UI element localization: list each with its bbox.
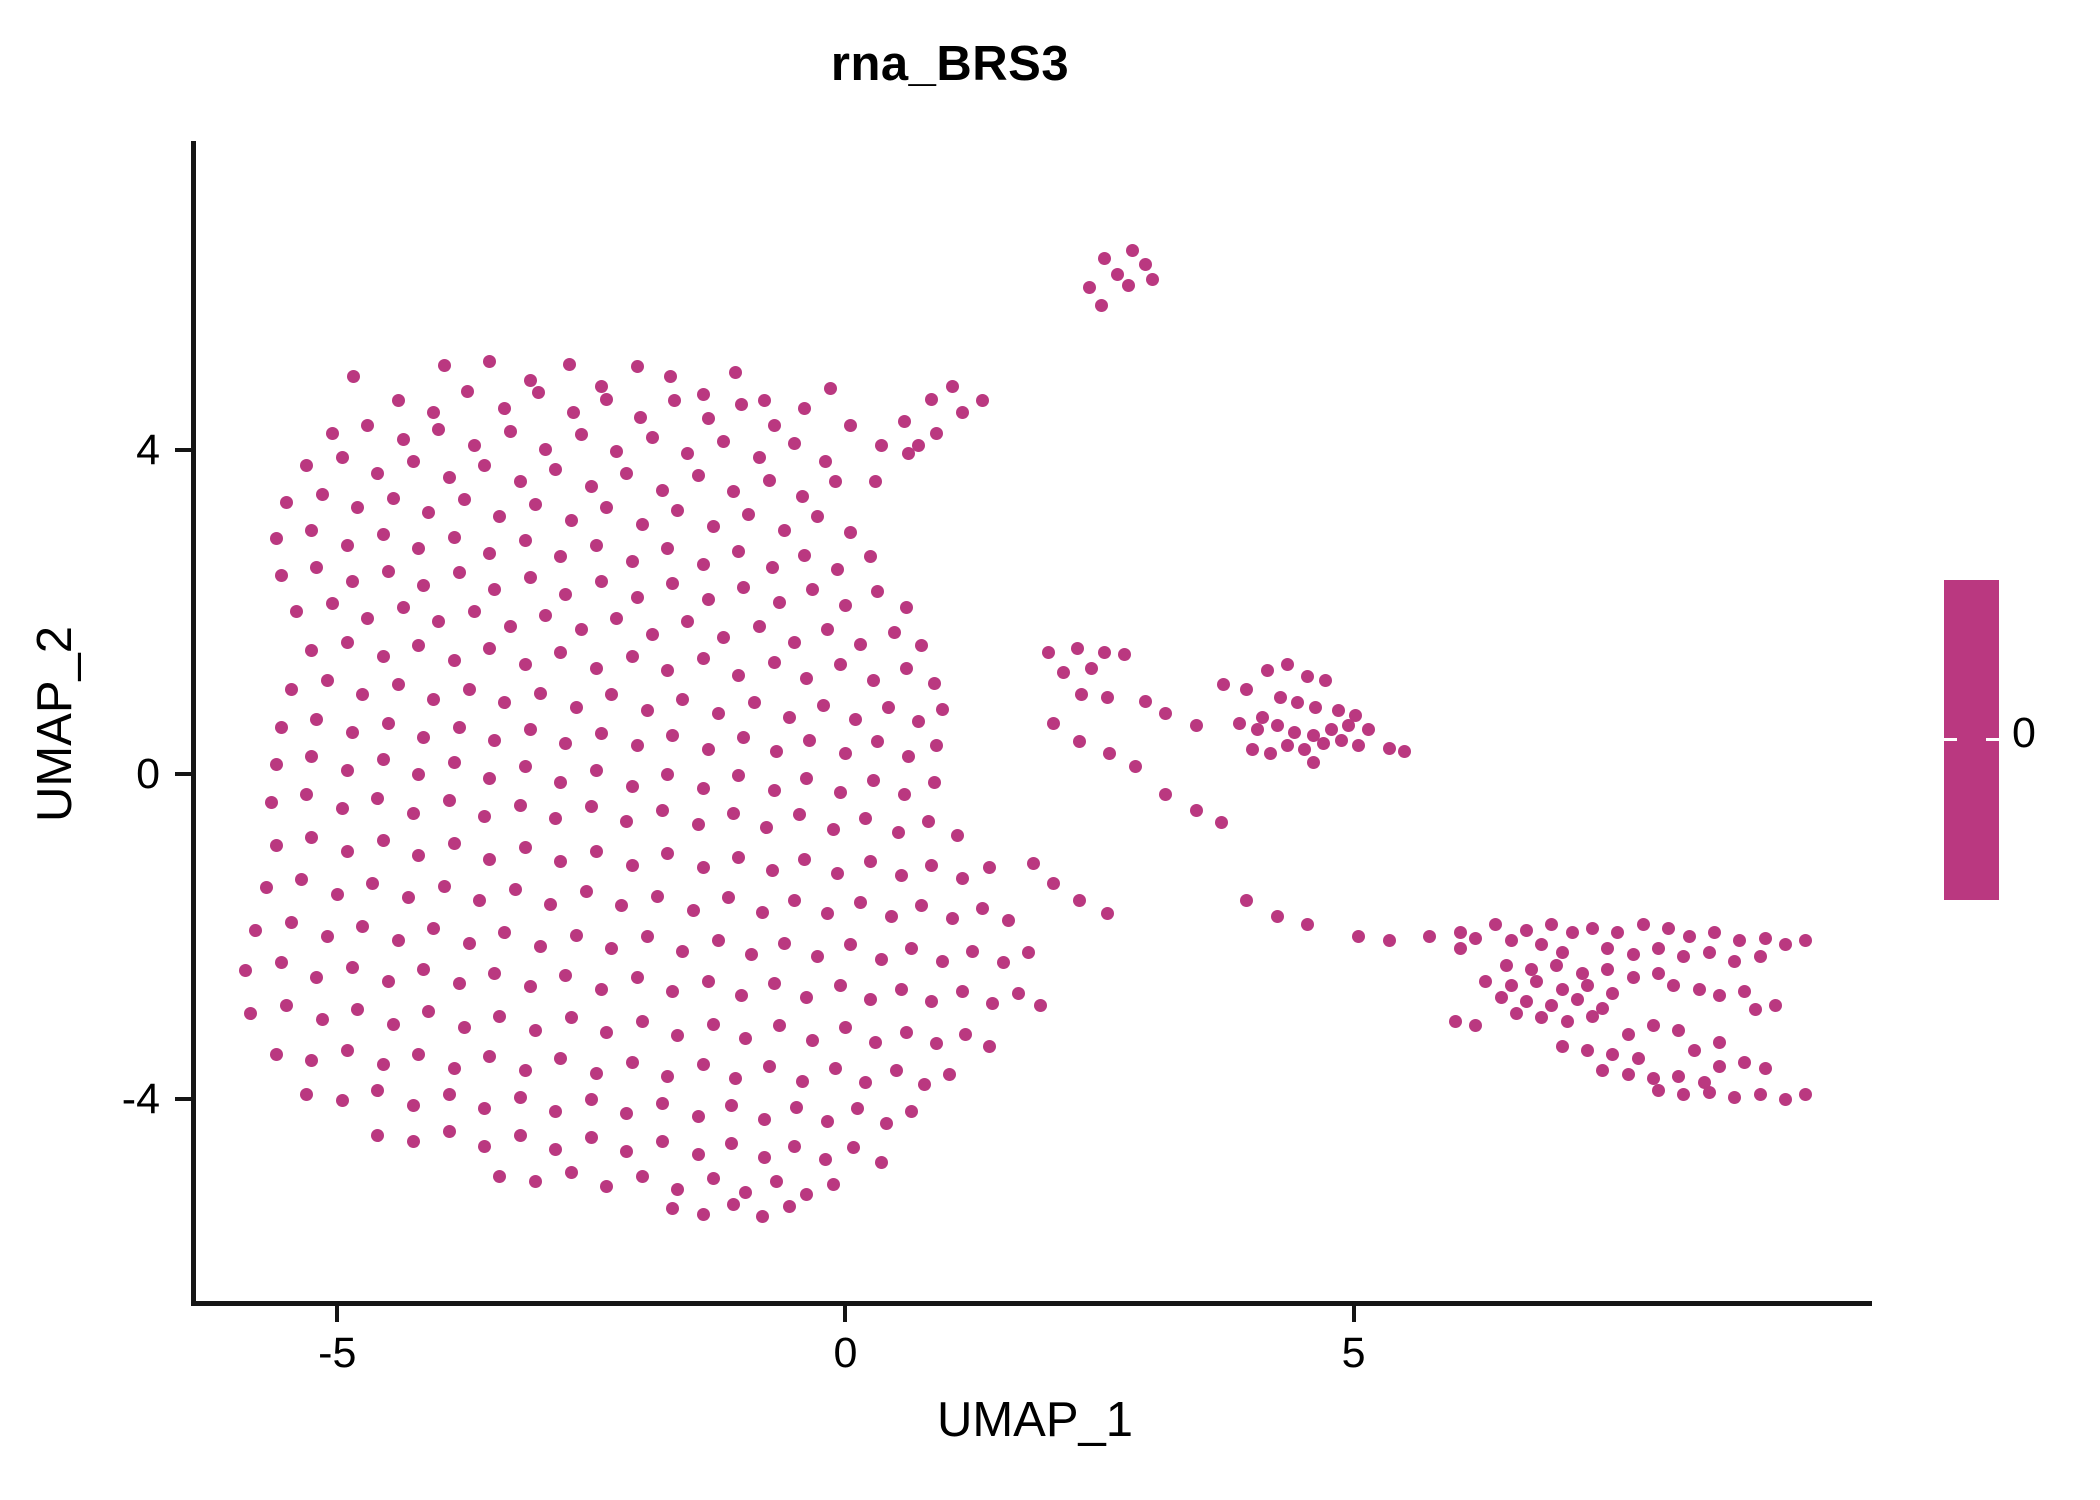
scatter-point (788, 636, 801, 649)
x-tick-mark (1352, 1306, 1356, 1322)
scatter-point (377, 650, 390, 663)
scatter-point (595, 575, 608, 588)
scatter-point (983, 861, 996, 874)
scatter-point (554, 550, 567, 563)
scatter-point (966, 945, 979, 958)
scatter-point (1606, 987, 1619, 1000)
scatter-point (928, 677, 941, 690)
scatter-point (997, 956, 1010, 969)
scatter-point (1159, 788, 1172, 801)
scatter-point (448, 654, 461, 667)
scatter-point (811, 510, 824, 523)
scatter-point (1298, 743, 1311, 756)
scatter-point (498, 696, 511, 709)
scatter-point (1799, 934, 1812, 947)
scatter-point (1256, 711, 1269, 724)
scatter-point (1383, 742, 1396, 755)
scatter-point (697, 861, 710, 874)
scatter-point (1233, 717, 1246, 730)
scatter-point (519, 534, 532, 547)
scatter-point (610, 445, 623, 458)
scatter-point (739, 1032, 752, 1045)
scatter-point (1703, 946, 1716, 959)
scatter-point (1647, 1019, 1660, 1032)
scatter-point (1383, 934, 1396, 947)
scatter-point (341, 764, 354, 777)
scatter-point (371, 467, 384, 480)
scatter-point (432, 423, 445, 436)
scatter-point (377, 834, 390, 847)
scatter-point (702, 593, 715, 606)
scatter-point (239, 964, 252, 977)
scatter-point (371, 1129, 384, 1142)
scatter-point (417, 963, 430, 976)
scatter-point (1520, 924, 1533, 937)
scatter-point (290, 605, 303, 618)
scatter-point (1103, 747, 1116, 760)
scatter-point (821, 907, 834, 920)
scatter-point (626, 1056, 639, 1069)
scatter-point (959, 1028, 972, 1041)
scatter-point (732, 851, 745, 864)
scatter-point (427, 922, 440, 935)
scatter-point (1479, 975, 1492, 988)
scatter-point (766, 864, 779, 877)
scatter-point (811, 950, 824, 963)
scatter-point (1500, 959, 1513, 972)
scatter-point (443, 1088, 456, 1101)
scatter-point (626, 859, 639, 872)
scatter-point (438, 359, 451, 372)
scatter-point (417, 731, 430, 744)
scatter-point (514, 475, 527, 488)
scatter-point (1556, 983, 1569, 996)
scatter-point (341, 845, 354, 858)
scatter-point (1637, 918, 1650, 931)
scatter-point (800, 1188, 813, 1201)
scatter-point (265, 796, 278, 809)
scatter-point (316, 488, 329, 501)
scatter-point (748, 696, 761, 709)
scatter-point (821, 623, 834, 636)
scatter-point (1274, 691, 1287, 704)
scatter-point (1309, 701, 1322, 714)
scatter-point (1728, 955, 1741, 968)
scatter-point (1047, 717, 1060, 730)
scatter-point (717, 631, 730, 644)
scatter-point (661, 1070, 674, 1083)
scatter-point (397, 433, 410, 446)
scatter-point (671, 1029, 684, 1042)
scatter-point (867, 674, 880, 687)
scatter-point (1146, 273, 1159, 286)
scatter-point (483, 1050, 496, 1063)
scatter-point (1022, 946, 1035, 959)
scatter-point (885, 910, 898, 923)
scatter-point (1586, 922, 1599, 935)
scatter-point (249, 924, 262, 937)
scatter-point (753, 620, 766, 633)
scatter-point (473, 894, 486, 907)
scatter-point (867, 774, 880, 787)
scatter-point (1652, 967, 1665, 980)
scatter-point (692, 1110, 705, 1123)
scatter-point (697, 782, 710, 795)
scatter-point (1606, 1048, 1619, 1061)
scatter-point (983, 1040, 996, 1053)
scatter-point (620, 467, 633, 480)
x-tick-label: 0 (775, 1332, 915, 1375)
page-title: rna_BRS3 (0, 36, 1900, 92)
scatter-point (1075, 688, 1088, 701)
scatter-point (488, 734, 501, 747)
scatter-point (712, 707, 725, 720)
scatter-point (895, 869, 908, 882)
y-tick-mark (175, 772, 191, 776)
scatter-point (930, 427, 943, 440)
scatter-point (1556, 946, 1569, 959)
scatter-point (697, 1058, 710, 1071)
scatter-point (739, 1186, 752, 1199)
colorbar-legend[interactable]: 0 (1944, 580, 2074, 900)
scatter-point (351, 1003, 364, 1016)
scatter-point (1652, 1084, 1665, 1097)
scatter-point (310, 971, 323, 984)
scatter-point (443, 471, 456, 484)
scatter-point (732, 669, 745, 682)
scatter-point (930, 739, 943, 752)
scatter-point (1779, 1093, 1792, 1106)
scatter-point (697, 388, 710, 401)
scatter-point (871, 735, 884, 748)
scatter-point (900, 1026, 913, 1039)
scatter-point (634, 411, 647, 424)
scatter-point (1449, 1015, 1462, 1028)
scatter-point (341, 1044, 354, 1057)
scatter-point (1335, 734, 1348, 747)
scatter-point (1683, 930, 1696, 943)
scatter-point (636, 1170, 649, 1183)
scatter-point (847, 1141, 860, 1154)
scatter-point (834, 979, 847, 992)
scatter-point (717, 435, 730, 448)
scatter-point (770, 1175, 783, 1188)
scatter-point (300, 788, 313, 801)
scatter-point (668, 394, 681, 407)
scatter-point (687, 904, 700, 917)
scatter-point (570, 701, 583, 714)
scatter-point (1601, 963, 1614, 976)
scatter-point (1071, 642, 1084, 655)
scatter-point (1749, 1003, 1762, 1016)
scatter-point (773, 596, 786, 609)
scatter-point (956, 985, 969, 998)
scatter-point (725, 1137, 738, 1150)
scatter-point (1362, 723, 1375, 736)
scatter-point (1122, 279, 1135, 292)
scatter-point (453, 977, 466, 990)
scatter-point (483, 642, 496, 655)
scatter-point (361, 612, 374, 625)
scatter-point (831, 867, 844, 880)
scatter-point (1317, 737, 1330, 750)
scatter-point (760, 821, 773, 834)
scatter-point (1101, 907, 1114, 920)
scatter-point (692, 1148, 705, 1161)
scatter-point (656, 484, 669, 497)
scatter-point (1271, 719, 1284, 732)
scatter-point (600, 1180, 613, 1193)
scatter-point (702, 412, 715, 425)
scatter-point (244, 1007, 257, 1020)
scatter-point (1159, 707, 1172, 720)
scatter-point (631, 591, 644, 604)
scatter-point (529, 1024, 542, 1037)
scatter-point (585, 800, 598, 813)
scatter-point (641, 704, 654, 717)
scatter-point (763, 1060, 776, 1073)
scatter-point (1596, 1064, 1609, 1077)
scatter-point (590, 1067, 603, 1080)
scatter-point (697, 1208, 710, 1221)
scatter-point (729, 366, 742, 379)
scatter-point (1002, 914, 1015, 927)
scatter-point (580, 885, 593, 898)
scatter-point (366, 877, 379, 890)
scatter-point (392, 394, 405, 407)
scatter-point (1352, 739, 1365, 752)
scatter-point (1632, 1052, 1645, 1065)
scatter-point (1454, 926, 1467, 939)
scatter-point (387, 1018, 400, 1031)
scatter-point (1118, 648, 1131, 661)
scatter-point (800, 991, 813, 1004)
scatter-point (305, 524, 318, 537)
scatter-point (321, 930, 334, 943)
scatter-point (1799, 1088, 1812, 1101)
scatter-point (626, 650, 639, 663)
scatter-point (922, 815, 935, 828)
scatter-point (956, 406, 969, 419)
scatter-point (725, 1099, 738, 1112)
scatter-point (305, 1054, 318, 1067)
scatter-point (305, 750, 318, 763)
scatter-point (554, 1052, 567, 1065)
scatter-point (1190, 719, 1203, 732)
scatter-point (326, 597, 339, 610)
scatter-point (1510, 1007, 1523, 1020)
scatter-point (778, 524, 791, 537)
scatter-point (928, 776, 941, 789)
scatter-point (524, 980, 537, 993)
scatter-point (600, 393, 613, 406)
scatter-point (1738, 1056, 1751, 1069)
scatter-point (453, 721, 466, 734)
scatter-point (549, 812, 562, 825)
scatter-point (336, 451, 349, 464)
scatter-point (275, 569, 288, 582)
scatter-point (524, 723, 537, 736)
scatter-point (347, 370, 360, 383)
scatter-point (422, 506, 435, 519)
scatter-point (946, 912, 959, 925)
scatter-point (498, 926, 511, 939)
scatter-point (534, 687, 547, 700)
scatter-point (1307, 756, 1320, 769)
scatter-point (1319, 674, 1332, 687)
scatter-point (631, 360, 644, 373)
x-tick-mark (843, 1306, 847, 1322)
scatter-point (295, 873, 308, 886)
scatter-point (270, 1048, 283, 1061)
scatter-point (636, 518, 649, 531)
scatter-point (529, 498, 542, 511)
scatter-point (1759, 932, 1772, 945)
scatter-point (727, 807, 740, 820)
scatter-point (902, 750, 915, 763)
scatter-point (912, 439, 925, 452)
scatter-point (554, 646, 567, 659)
scatter-point (900, 601, 913, 614)
scatter-point (498, 402, 511, 415)
scatter-point (707, 1172, 720, 1185)
scatter-point (806, 1034, 819, 1047)
scatter-point (504, 425, 517, 438)
scatter-point (1398, 745, 1411, 758)
scatter-point (666, 577, 679, 590)
scatter-point (600, 501, 613, 514)
scatter-point (509, 883, 522, 896)
scatter-point (1647, 1072, 1660, 1085)
scatter-point (1281, 739, 1294, 752)
scatter-point (745, 948, 758, 961)
scatter-point (270, 839, 283, 852)
scatter-point (936, 703, 949, 716)
scatter-point (427, 693, 440, 706)
scatter-point (1281, 658, 1294, 671)
scatter-point (524, 571, 537, 584)
scatter-point (1688, 1044, 1701, 1057)
scatter-point (666, 729, 679, 742)
scatter-point (321, 674, 334, 687)
scatter-point (646, 628, 659, 641)
scatter-point (844, 526, 857, 539)
scatter-point (1332, 704, 1345, 717)
scatter-point (514, 1091, 527, 1104)
scatter-point (346, 575, 359, 588)
scatter-point (1662, 922, 1675, 935)
scatter-point (681, 615, 694, 628)
scatter-point (397, 601, 410, 614)
scatter-point (1561, 1015, 1574, 1028)
scatter-point (590, 845, 603, 858)
scatter-point (1581, 1044, 1594, 1057)
colorbar-tick-right (1986, 738, 1999, 741)
scatter-point (300, 1088, 313, 1101)
scatter-point (729, 1072, 742, 1085)
scatter-point (656, 1097, 669, 1110)
scatter-point (756, 906, 769, 919)
scatter-point (702, 743, 715, 756)
scatter-point (796, 490, 809, 503)
scatter-point (986, 997, 999, 1010)
scatter-point (559, 737, 572, 750)
scatter-point (827, 1178, 840, 1191)
scatter-point (514, 799, 527, 812)
scatter-point (1098, 252, 1111, 265)
x-tick-label: -5 (267, 1332, 407, 1375)
scatter-point (1012, 987, 1025, 1000)
scatter-point (793, 808, 806, 821)
scatter-point (824, 382, 837, 395)
scatter-point (1622, 1028, 1635, 1041)
scatter-point (1139, 258, 1152, 271)
scatter-point (737, 731, 750, 744)
scatter-point (676, 945, 689, 958)
scatter-point (412, 768, 425, 781)
scatter-point (412, 849, 425, 862)
scatter-point (280, 496, 293, 509)
scatter-point (1505, 934, 1518, 947)
scatter-point (869, 1036, 882, 1049)
scatter-point (377, 528, 390, 541)
scatter-point (575, 623, 588, 636)
scatter-point (407, 807, 420, 820)
scatter-point (735, 398, 748, 411)
scatter-point (341, 636, 354, 649)
scatter-point (1489, 918, 1502, 931)
scatter-point (285, 683, 298, 696)
scatter-point (412, 1048, 425, 1061)
scatter-point (1215, 816, 1228, 829)
scatter-point (918, 1078, 931, 1091)
scatter-point (1576, 967, 1589, 980)
scatter-point (753, 451, 766, 464)
scatter-point (544, 898, 557, 911)
scatter-point (631, 971, 644, 984)
scatter-point (671, 504, 684, 517)
scatter-point (976, 902, 989, 915)
scatter-point (666, 985, 679, 998)
scatter-point (305, 831, 318, 844)
scatter-point (798, 402, 811, 415)
scatter-point (1085, 662, 1098, 675)
y-tick-label: -4 (40, 1078, 160, 1121)
scatter-point (371, 1084, 384, 1097)
scatter-point (915, 639, 928, 652)
scatter-point (461, 385, 474, 398)
scatter-point (851, 1102, 864, 1115)
scatter-point (1535, 1011, 1548, 1024)
scatter-point (351, 501, 364, 514)
scatter-point (1627, 948, 1640, 961)
scatter-point (1545, 999, 1558, 1012)
scatter-point (554, 855, 567, 868)
scatter-point (1469, 932, 1482, 945)
scatter-point (646, 431, 659, 444)
scatter-point (356, 688, 369, 701)
scatter-point (575, 428, 588, 441)
scatter-point (346, 726, 359, 739)
scatter-point (1057, 666, 1070, 679)
scatter-point (559, 969, 572, 982)
umap-feature-plot: rna_BRS3 40-4 -505 UMAP_1 UMAP_2 0 (0, 0, 2100, 1500)
scatter-point (493, 1170, 506, 1183)
scatter-point (585, 480, 598, 493)
scatter-point (864, 993, 877, 1006)
scatter-point (565, 1166, 578, 1179)
scatter-point (869, 475, 882, 488)
